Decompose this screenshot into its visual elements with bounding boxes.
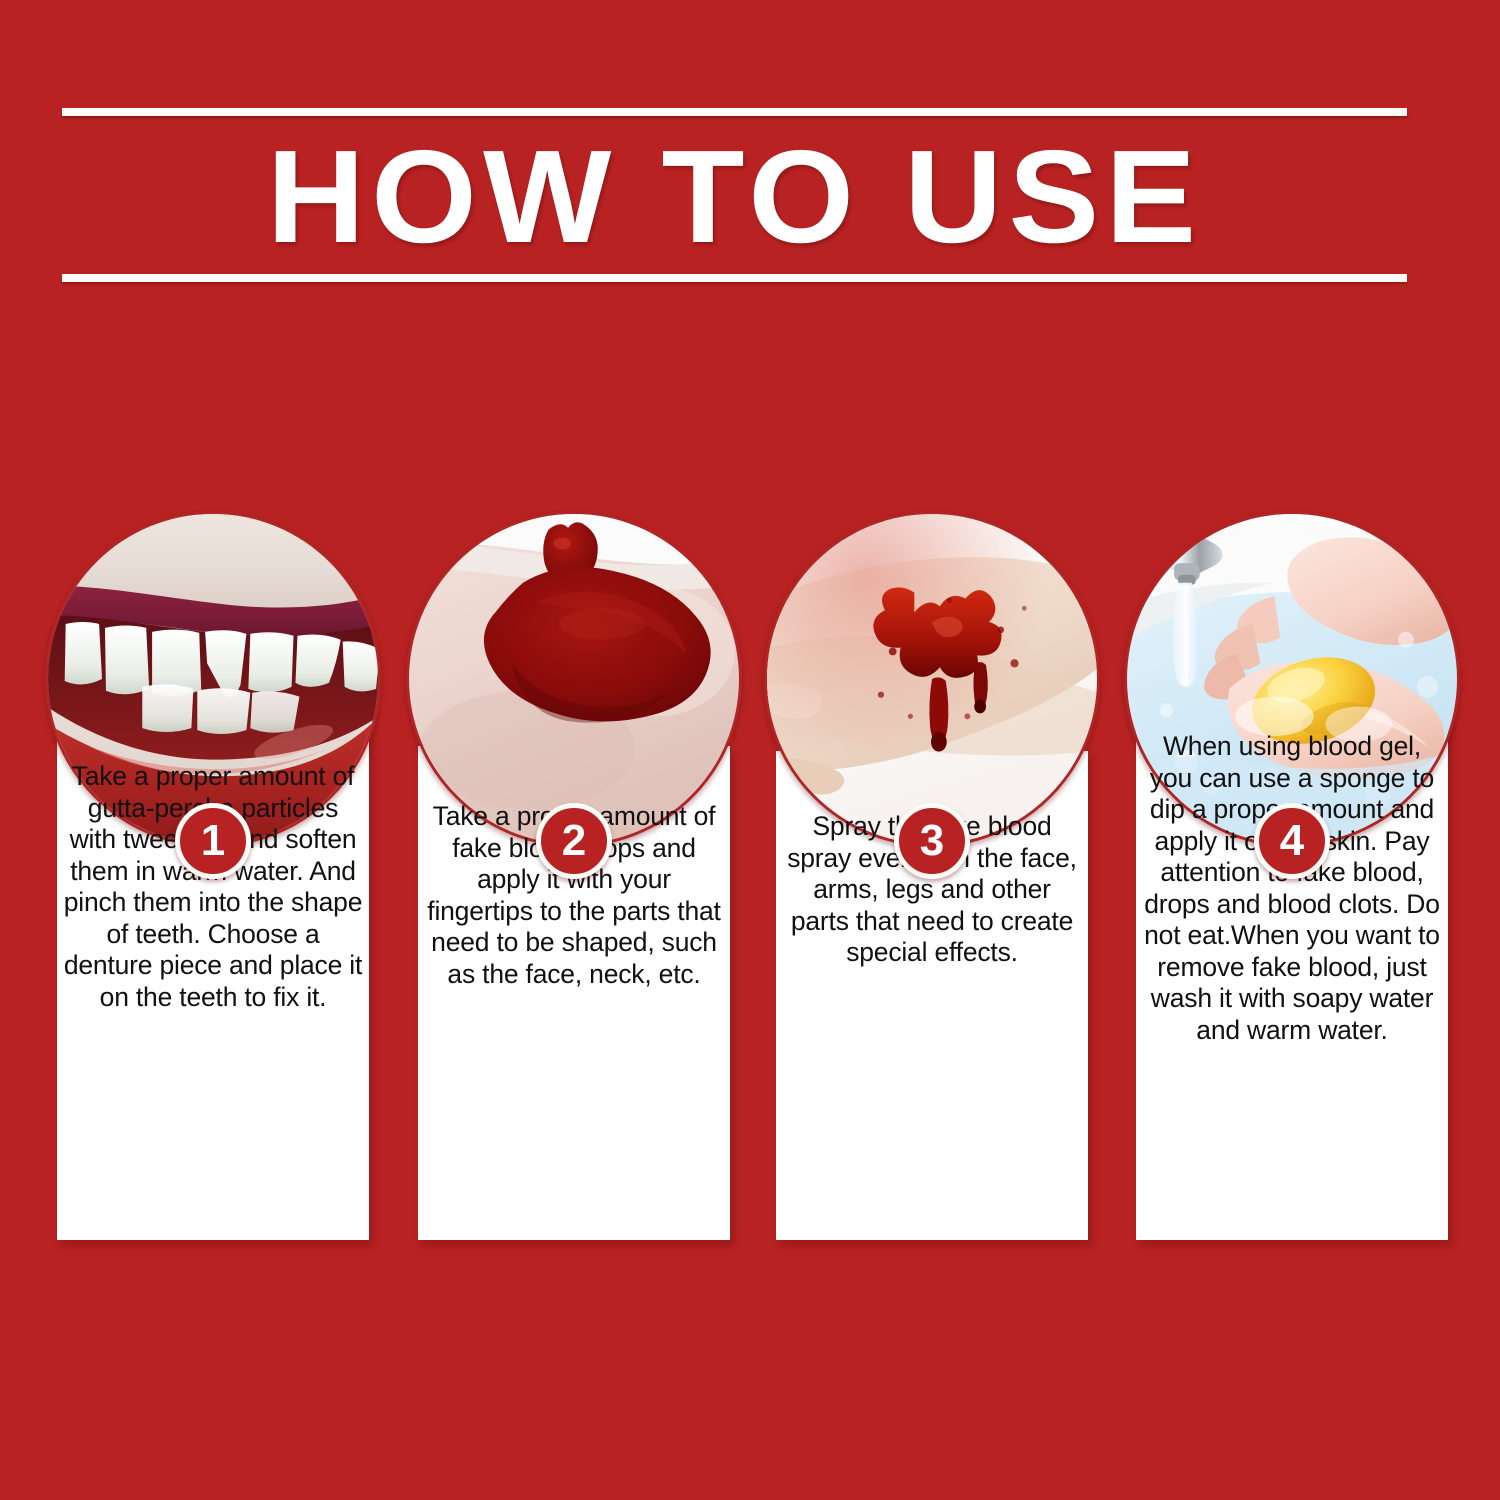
step-card-1: 1 Take a proper amount of gutta-percha p… [57, 505, 369, 1240]
title-block: HOW TO USE [62, 100, 1407, 292]
step-number-badge: 2 [536, 803, 612, 879]
title-rule-top [62, 108, 1407, 116]
title-rule-bottom [62, 274, 1407, 282]
infographic-page: HOW TO USE [0, 0, 1500, 1500]
step-number-badge: 3 [894, 803, 970, 879]
blood-spray-on-hand-photo [764, 511, 1100, 847]
step-card-4: 4 When using blood gel, you can use a sp… [1136, 505, 1448, 1240]
blood-drops-on-skin-photo [406, 511, 742, 847]
step-description: Take a proper amount of gutta-percha par… [63, 761, 363, 1013]
step-card-3: 3 Spray the fake blood spray evenly on t… [776, 505, 1088, 1240]
step-description: When using blood gel, you can use a spon… [1142, 731, 1442, 1046]
step-number-badge: 4 [1254, 803, 1330, 879]
step-card-2: 2 Take a proper amount of fake blood dro… [418, 505, 730, 1240]
page-title: HOW TO USE [42, 124, 1427, 270]
steps-row: 1 Take a proper amount of gutta-percha p… [57, 505, 1447, 1240]
step-number-badge: 1 [175, 803, 251, 879]
